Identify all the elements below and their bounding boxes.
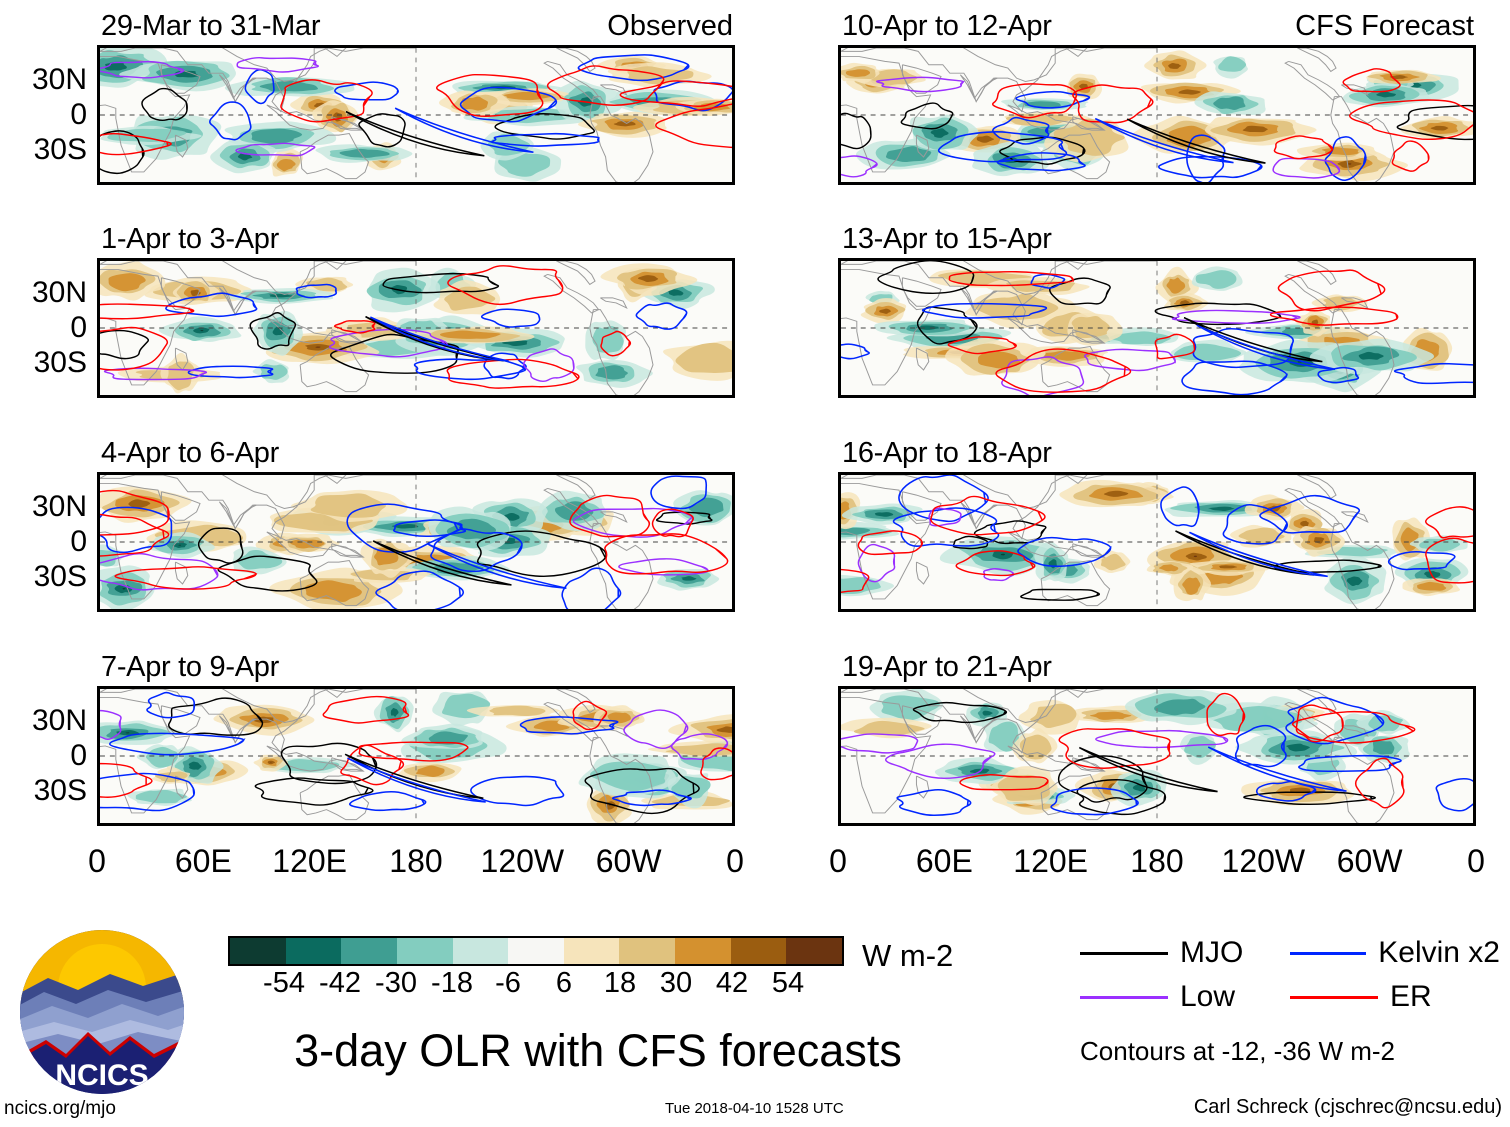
column-header-observed: Observed [607,12,733,41]
ytick-0: 0 [70,313,87,343]
figure-title: 3-day OLR with CFS forecasts [228,1026,968,1076]
xtick-label: 120E [272,845,347,877]
xaxis-right: 060E120E180120W60W0 [838,845,1476,879]
colorbar-swatch-8 [675,938,731,964]
colorbar-tick: 18 [604,968,636,998]
panel-title: 29-Mar to 31-Mar [101,12,320,41]
map-panel [838,472,1476,612]
legend-label: Kelvin x2 [1378,938,1500,968]
legend-line-icon [1290,952,1366,955]
colorbar-tick: -42 [319,968,361,998]
panel-3: 7-Apr to 9-Apr 30N 0 30S [97,686,735,826]
ytick-30n: 30N [32,706,87,736]
olr-map [841,689,1473,823]
panel-2: 4-Apr to 6-Apr 30N 0 30S [97,472,735,612]
xtick-label: 60W [1337,845,1403,877]
ytick-0: 0 [70,527,87,557]
xtick-label: 120W [1222,845,1306,877]
map-panel [97,258,735,398]
legend-line-icon [1080,996,1168,999]
colorbar-swatch-5 [508,938,564,964]
map-panel [97,472,735,612]
ytick-30s: 30S [34,776,87,806]
ytick-30s: 30S [34,348,87,378]
panel-0: 29-Mar to 31-Mar Observed 30N 0 30S [97,45,735,185]
ytick-30n: 30N [32,278,87,308]
logo-label: NCICS [55,1059,148,1092]
xtick-label: 0 [88,845,106,877]
xtick-label: 0 [726,845,744,877]
colorbar-swatch-9 [731,938,787,964]
timestamp: Tue 2018-04-10 1528 UTC [665,1100,844,1117]
map-panel [838,258,1476,398]
map-panel [97,45,735,185]
legend-item-low: Low [1080,982,1290,1012]
map-panel [97,686,735,826]
xtick-label: 60E [175,845,232,877]
legend-item-mjo: MJO [1080,938,1290,968]
legend-row: MJO Kelvin x2 [1080,938,1500,968]
xtick-label: 180 [1130,845,1183,877]
panel-1: 1-Apr to 3-Apr 30N 0 30S [97,258,735,398]
xtick-label: 120W [481,845,565,877]
colorbar-tick: -6 [495,968,521,998]
xtick-label: 0 [1467,845,1485,877]
legend-item-kelvin: Kelvin x2 [1290,938,1500,968]
colorbar-swatch-6 [564,938,620,964]
author-credit: Carl Schreck (cjschrec@ncsu.edu) [1194,1096,1502,1119]
site-url: ncics.org/mjo [4,1098,116,1120]
legend-label: Low [1180,982,1235,1012]
xtick-label: 0 [829,845,847,877]
panel-title: 19-Apr to 21-Apr [842,653,1052,682]
legend-label: MJO [1180,938,1243,968]
xtick-label: 120E [1013,845,1088,877]
legend-row: Low ER [1080,982,1500,1012]
ytick-0: 0 [70,100,87,130]
colorbar-swatch-4 [453,938,509,964]
legend-line-icon [1290,996,1378,999]
panel-grid: 29-Mar to 31-Mar Observed 30N 0 30S 10-A… [0,0,1510,900]
ncics-logo: NCICS [18,928,186,1096]
olr-map [841,48,1473,182]
legend-label: ER [1390,982,1432,1012]
panel-5: 13-Apr to 15-Apr [838,258,1476,398]
colorbar-tick: -30 [375,968,417,998]
colorbar-tick: -54 [263,968,305,998]
ytick-30s: 30S [34,562,87,592]
panel-title: 13-Apr to 15-Apr [842,225,1052,254]
panel-4: 10-Apr to 12-Apr CFS Forecast [838,45,1476,185]
colorbar-swatch-7 [619,938,675,964]
map-panel [838,45,1476,185]
panel-title: 4-Apr to 6-Apr [101,439,279,468]
panel-title: 10-Apr to 12-Apr [842,12,1052,41]
colorbar-tick: 30 [660,968,692,998]
column-header-forecast: CFS Forecast [1295,12,1474,41]
olr-map [841,261,1473,395]
colorbar-tick: -18 [431,968,473,998]
colorbar-tick: 6 [556,968,572,998]
colorbar-wrap: -54-42-30-18-6618304254 [228,936,844,1002]
xaxis-left: 060E120E180120W60W0 [97,845,735,879]
legend-item-er: ER [1290,982,1500,1012]
colorbar-swatch-1 [286,938,342,964]
colorbar-swatch-0 [230,938,286,964]
colorbar-tick: 54 [772,968,804,998]
ytick-30n: 30N [32,65,87,95]
panel-7: 19-Apr to 21-Apr [838,686,1476,826]
panel-title: 7-Apr to 9-Apr [101,653,279,682]
xtick-label: 60W [596,845,662,877]
ytick-30s: 30S [34,135,87,165]
olr-map [100,48,732,182]
colorbar-swatch-3 [397,938,453,964]
panel-6: 16-Apr to 18-Apr [838,472,1476,612]
xtick-label: 180 [389,845,442,877]
legend-line-icon [1080,952,1168,955]
ytick-30n: 30N [32,492,87,522]
contour-legend: MJO Kelvin x2 Low ER [1080,938,1500,1026]
ytick-0: 0 [70,741,87,771]
colorbar [228,936,844,966]
olr-map [100,475,732,609]
olr-map [100,261,732,395]
xtick-label: 60E [916,845,973,877]
colorbar-ticklabels: -54-42-30-18-6618304254 [228,968,844,1002]
colorbar-tick: 42 [716,968,748,998]
olr-map [100,689,732,823]
colorbar-swatch-10 [786,938,842,964]
ncics-logo-svg: NCICS [18,928,186,1096]
panel-title: 16-Apr to 18-Apr [842,439,1052,468]
olr-map [841,475,1473,609]
colorbar-unit: W m-2 [862,938,953,974]
map-panel [838,686,1476,826]
colorbar-swatch-2 [341,938,397,964]
panel-title: 1-Apr to 3-Apr [101,225,279,254]
contour-note: Contours at -12, -36 W m-2 [1080,1036,1395,1067]
